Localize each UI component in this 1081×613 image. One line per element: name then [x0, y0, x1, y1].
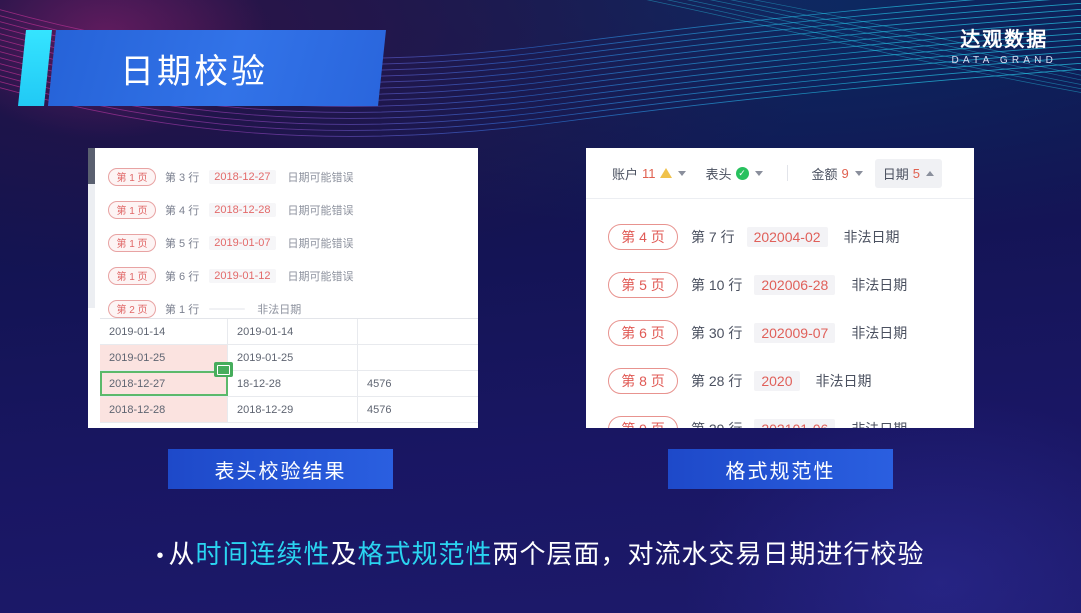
table-cell[interactable] [358, 345, 478, 370]
tab-count: 5 [913, 166, 920, 181]
bullet-part-1: 从 [168, 539, 195, 569]
tab-account[interactable]: 账户 11 [604, 159, 694, 188]
caption-left: 表头校验结果 [168, 449, 393, 489]
row-number: 第 6 行 [165, 268, 199, 284]
tab-header[interactable]: 表头 ✓ [698, 159, 771, 188]
slide-title-banner: 日期校验 [22, 30, 382, 106]
date-value: 202006-28 [754, 275, 835, 295]
caption-right: 格式规范性 [668, 449, 893, 489]
table-cell-text: 18-12-28 [237, 378, 281, 390]
list-item[interactable]: 第 5 页 第 10 行 202006-28 非法日期 [608, 261, 974, 309]
bullet-part-2: 及 [331, 539, 358, 569]
status-text: 非法日期 [851, 419, 907, 428]
row-number: 第 30 行 [691, 323, 742, 343]
table-cell-selected[interactable]: 2018-12-27 [100, 371, 228, 396]
list-item[interactable]: 第 4 页 第 7 行 202004-02 非法日期 [608, 213, 974, 261]
date-value: 202009-07 [754, 323, 835, 343]
bullet-part-3: 两个层面，对流水交易日期进行校验 [493, 539, 925, 569]
page-badge: 第 4 页 [608, 224, 678, 250]
status-text: 日期可能错误 [288, 169, 354, 185]
list-item[interactable]: 第 1 页 第 6 行 2019-01-12 日期可能错误 [108, 259, 478, 292]
title-accent-bar [18, 30, 52, 106]
list-item[interactable]: 第 8 页 第 28 行 2020 非法日期 [608, 357, 974, 405]
date-value [209, 308, 245, 310]
tab-amount[interactable]: 金额 9 [804, 159, 871, 188]
right-validation-list: 第 4 页 第 7 行 202004-02 非法日期 第 5 页 第 10 行 … [586, 199, 974, 428]
bullet-statement: •从时间连续性及格式规范性两个层面，对流水交易日期进行校验 [0, 534, 1081, 571]
list-item[interactable]: 第 1 页 第 4 行 2018-12-28 日期可能错误 [108, 193, 478, 226]
status-text: 非法日期 [844, 227, 900, 247]
title-box: 日期校验 [48, 30, 386, 106]
row-number: 第 7 行 [691, 227, 735, 247]
table-cell[interactable]: 4576 [358, 397, 478, 422]
page-badge: 第 6 页 [608, 320, 678, 346]
bullet-highlight-1: 时间连续性 [195, 539, 330, 569]
chevron-down-icon[interactable] [855, 171, 863, 176]
warning-icon [660, 168, 672, 178]
tab-label: 表头 [706, 164, 732, 183]
row-number: 第 29 行 [691, 419, 742, 428]
tab-label: 日期 [883, 164, 909, 183]
status-text: 非法日期 [257, 301, 301, 317]
check-icon: ✓ [736, 167, 749, 180]
date-value: 2018-12-28 [209, 203, 275, 217]
page-badge: 第 5 页 [608, 272, 678, 298]
bullet-highlight-2: 格式规范性 [358, 539, 493, 569]
tab-count: 9 [842, 166, 849, 181]
brand-logo: 达观数据 DATA GRAND [951, 28, 1057, 66]
date-value: 2019-01-12 [209, 269, 275, 283]
table-cell[interactable]: 2019-01-25 [100, 345, 228, 370]
date-value: 202101-06 [754, 419, 835, 428]
table-row[interactable]: 2019-01-25 2019-01-25 [100, 345, 478, 371]
table-cell[interactable] [358, 319, 478, 344]
table-cell[interactable]: 2018-12-28 [100, 397, 228, 422]
slide-canvas: 日期校验 达观数据 DATA GRAND 第 1 页 第 3 行 2018-12… [0, 0, 1081, 613]
table-cell[interactable]: 18-12-28 [228, 371, 358, 396]
logo-chinese-text: 达观数据 [951, 28, 1057, 52]
right-screenshot-panel: 账户 11 表头 ✓ 金额 9 日期 5 [586, 148, 974, 428]
page-badge: 第 1 页 [108, 201, 156, 219]
status-text: 非法日期 [816, 371, 872, 391]
page-title: 日期校验 [52, 44, 268, 93]
date-value: 2019-01-07 [209, 236, 275, 250]
table-row[interactable]: 2018-12-27 18-12-28 4576 [100, 371, 478, 397]
status-text: 非法日期 [851, 323, 907, 343]
row-number: 第 4 行 [165, 202, 199, 218]
list-item[interactable]: 第 1 页 第 5 行 2019-01-07 日期可能错误 [108, 226, 478, 259]
status-text: 日期可能错误 [288, 235, 354, 251]
row-number: 第 10 行 [691, 275, 742, 295]
spreadsheet-table: 2019-01-14 2019-01-14 2019-01-25 2019-01… [100, 318, 478, 423]
page-badge: 第 1 页 [108, 234, 156, 252]
tab-count: 11 [642, 166, 656, 181]
row-number: 第 28 行 [691, 371, 742, 391]
list-item[interactable]: 第 1 页 第 3 行 2018-12-27 日期可能错误 [108, 160, 478, 193]
status-text: 非法日期 [851, 275, 907, 295]
date-value: 202004-02 [747, 227, 828, 247]
divider [787, 165, 788, 181]
tab-date[interactable]: 日期 5 [875, 159, 942, 188]
table-row[interactable]: 2018-12-28 2018-12-29 4576 [100, 397, 478, 423]
date-value: 2020 [754, 371, 799, 391]
chevron-down-icon[interactable] [678, 171, 686, 176]
logo-english-text: DATA GRAND [951, 55, 1057, 66]
table-row[interactable]: 2019-01-14 2019-01-14 [100, 319, 478, 345]
tab-label: 账户 [612, 164, 638, 183]
status-text: 日期可能错误 [288, 202, 354, 218]
tab-label: 金额 [812, 164, 838, 183]
left-screenshot-panel: 第 1 页 第 3 行 2018-12-27 日期可能错误 第 1 页 第 4 … [88, 148, 478, 428]
page-badge: 第 9 页 [608, 416, 678, 428]
table-cell[interactable]: 2019-01-14 [228, 319, 358, 344]
page-badge: 第 2 页 [108, 300, 156, 318]
chevron-up-icon[interactable] [926, 171, 934, 176]
page-badge: 第 1 页 [108, 267, 156, 285]
date-value: 2018-12-27 [209, 170, 275, 184]
list-item[interactable]: 第 9 页 第 29 行 202101-06 非法日期 [608, 405, 974, 428]
table-cell[interactable]: 4576 [358, 371, 478, 396]
scrollbar-thumb[interactable] [88, 148, 95, 184]
row-number: 第 5 行 [165, 235, 199, 251]
bullet-dot-icon: • [156, 545, 164, 567]
table-cell[interactable]: 2019-01-14 [100, 319, 228, 344]
chevron-down-icon[interactable] [755, 171, 763, 176]
list-item[interactable]: 第 6 页 第 30 行 202009-07 非法日期 [608, 309, 974, 357]
row-number: 第 3 行 [165, 169, 199, 185]
status-text: 日期可能错误 [288, 268, 354, 284]
page-badge: 第 8 页 [608, 368, 678, 394]
table-cell[interactable]: 2019-01-25 [228, 345, 358, 370]
paste-options-icon[interactable] [214, 362, 233, 377]
table-cell[interactable]: 2018-12-29 [228, 397, 358, 422]
validation-tabs-bar: 账户 11 表头 ✓ 金额 9 日期 5 [586, 148, 974, 199]
left-validation-list: 第 1 页 第 3 行 2018-12-27 日期可能错误 第 1 页 第 4 … [88, 148, 478, 325]
row-number: 第 1 行 [165, 301, 199, 317]
page-badge: 第 1 页 [108, 168, 156, 186]
